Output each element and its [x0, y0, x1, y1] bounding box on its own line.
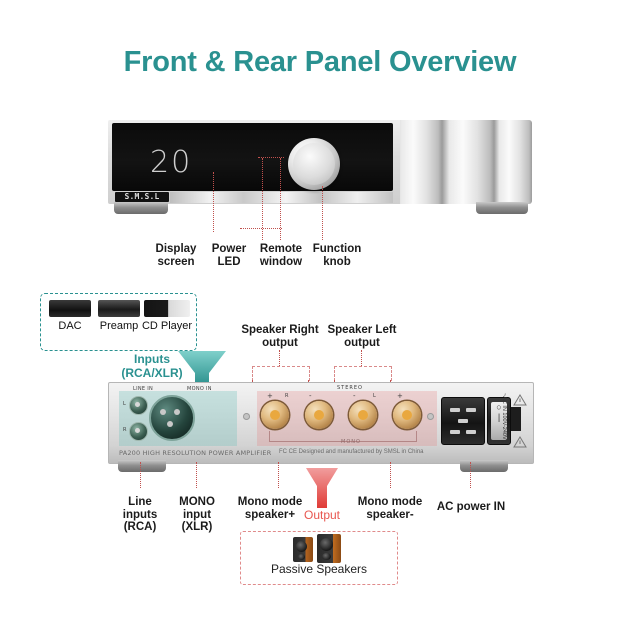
- passive-speakers-box: Passive Speakers: [240, 531, 398, 585]
- source-item-dac: DAC: [47, 300, 93, 332]
- rear-foot-right: [460, 460, 508, 472]
- leader-hook-top: [258, 157, 284, 158]
- heatsink-fin-2: [442, 120, 494, 204]
- heatsink-fin-1: [394, 120, 442, 204]
- model-silk-text: PA200 HIGH RESOLUTION POWER AMPLIFIER: [119, 449, 271, 457]
- callout-ac-power-in: AC power IN: [424, 501, 518, 514]
- silk-ac-input: ~AC IN 100V-240V: [501, 393, 507, 440]
- leader-function-knob: [322, 186, 323, 240]
- leader-display-screen: [213, 172, 214, 232]
- callout-function-knob: Function knob: [308, 243, 366, 268]
- rca-jack-right[interactable]: [129, 422, 148, 441]
- display-screen: 20: [112, 123, 393, 191]
- silk-line-in: LINE IN: [133, 386, 153, 392]
- silk-mono-bracket: [269, 431, 417, 442]
- function-knob[interactable]: [288, 138, 340, 190]
- volume-readout: 20: [150, 145, 192, 180]
- source-label-dac: DAC: [47, 320, 93, 332]
- silk-post1-plus: +: [267, 392, 273, 400]
- rca-jack-left[interactable]: [129, 396, 148, 415]
- input-sources-box: DAC Preamp CD Player: [40, 293, 197, 351]
- silk-stereo: STEREO: [337, 385, 363, 391]
- preamp-device-icon: [98, 300, 140, 317]
- front-foot-left: [114, 202, 168, 214]
- silk-rca-right: R: [123, 427, 127, 433]
- bracket-speaker-left: [334, 366, 392, 381]
- front-foot-right: [476, 202, 528, 214]
- warning-triangle-bottom: [513, 435, 527, 453]
- warning-badge: [511, 407, 521, 431]
- silk-post2-minus: -: [309, 392, 312, 400]
- binding-post-left-plus[interactable]: [393, 401, 421, 429]
- silk-mono-in: MONO IN: [187, 386, 212, 392]
- binding-post-left-minus[interactable]: [349, 401, 377, 429]
- callout-power-led: Power LED: [205, 243, 253, 268]
- source-label-preamp: Preamp: [96, 320, 142, 332]
- rear-foot-left: [118, 460, 166, 472]
- front-bottom-trim: [170, 192, 393, 203]
- leader-ac-power-in: [470, 462, 471, 488]
- brand-logo: S.M.S.L: [115, 192, 169, 202]
- leader-line-inputs: [140, 462, 141, 488]
- dac-device-icon: [49, 300, 91, 317]
- binding-post-right-plus[interactable]: [261, 401, 289, 429]
- cd-player-device-icon: [144, 300, 190, 317]
- callout-mono-input: MONO input (XLR): [168, 496, 226, 534]
- xlr-jack-mono-in[interactable]: [149, 395, 195, 441]
- speaker-left-icon: [293, 537, 313, 562]
- leader-mono-speaker-minus: [390, 462, 391, 488]
- leader-hook-bottom: [240, 228, 282, 229]
- front-face-plate: 20 S.M.S.L: [108, 120, 400, 204]
- screw-hole-left: [243, 413, 250, 420]
- page-title: Front & Rear Panel Overview: [0, 46, 640, 79]
- ac-inlet-socket[interactable]: [441, 397, 485, 445]
- certification-silk-text: FC CE Designed and manufactured by SMSL …: [279, 449, 424, 455]
- infographic-root: Front & Rear Panel Overview 20 S.M.S.L D…: [0, 0, 640, 640]
- silk-post4-plus: +: [397, 392, 403, 400]
- heatsink-fin-3: [494, 120, 532, 204]
- callout-speaker-right-output: Speaker Right output: [236, 324, 324, 349]
- screw-hole-right: [427, 413, 434, 420]
- rear-face-plate: LINE IN MONO IN STEREO MONO L R + - - +: [108, 382, 534, 464]
- leader-mono-speaker-plus: [278, 462, 279, 488]
- callout-line-inputs: Line inputs (RCA): [110, 496, 170, 534]
- callout-display-screen: Display screen: [143, 243, 209, 268]
- leader-speaker-left: [361, 350, 362, 366]
- silk-post3-minus: -: [353, 392, 356, 400]
- callout-output: Output: [296, 509, 348, 522]
- leader-speaker-right: [279, 350, 280, 366]
- callout-speaker-left-output: Speaker Left output: [322, 324, 402, 349]
- callout-remote-window: Remote window: [251, 243, 311, 268]
- source-item-preamp: Preamp: [96, 300, 142, 332]
- front-panel-device: 20 S.M.S.L: [108, 120, 532, 224]
- silk-rca-left: L: [123, 401, 126, 407]
- leader-mono-input: [196, 462, 197, 488]
- power-switch[interactable]: ○|: [487, 397, 511, 445]
- source-item-cd-player: CD Player: [141, 300, 193, 332]
- passive-speakers-label: Passive Speakers: [241, 562, 397, 576]
- source-label-cd-player: CD Player: [141, 320, 193, 332]
- binding-post-right-minus[interactable]: [305, 401, 333, 429]
- speaker-right-icon: [317, 534, 341, 563]
- silk-channel-left: L: [373, 393, 376, 399]
- silk-channel-right: R: [285, 393, 289, 399]
- bracket-speaker-right: [252, 366, 310, 381]
- rear-panel-device: LINE IN MONO IN STEREO MONO L R + - - +: [108, 382, 532, 470]
